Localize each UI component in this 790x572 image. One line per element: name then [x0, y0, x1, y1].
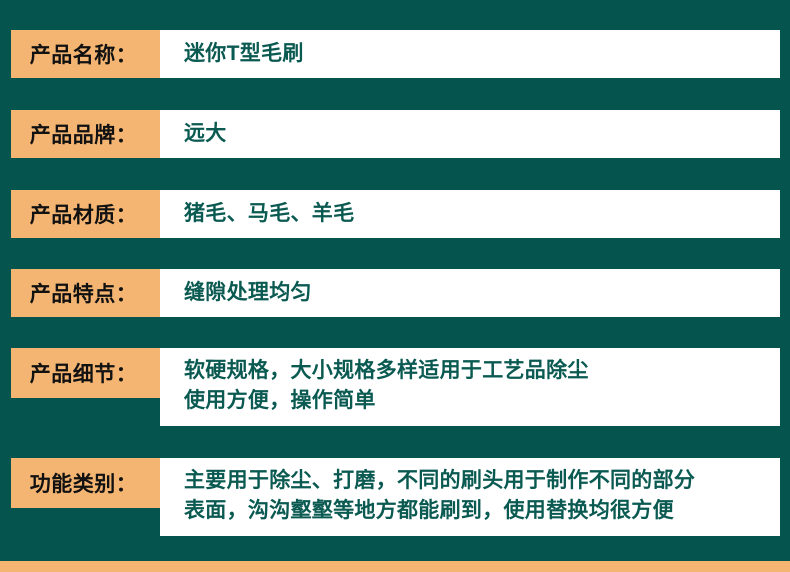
spec-value-line: 表面，沟沟壑壑等地方都能刷到，使用替换均很方便: [184, 496, 774, 526]
spec-row-product-material: 产品材质： 猪毛、马毛、羊毛: [11, 190, 780, 238]
spec-label-product-name: 产品名称：: [11, 30, 160, 78]
spec-value-product-details: 软硬规格，大小规格多样适用于工艺品除尘 使用方便，操作简单: [160, 348, 780, 426]
spec-label-product-details: 产品细节：: [11, 348, 160, 398]
bottom-accent-bar: [0, 561, 790, 572]
spec-row-function-category: 功能类别： 主要用于除尘、打磨，不同的刷头用于制作不同的部分 表面，沟沟壑壑等地…: [11, 458, 780, 536]
spec-value-line: 使用方便，操作简单: [184, 386, 774, 416]
spec-value-line: 猪毛、马毛、羊毛: [184, 199, 774, 229]
spec-row-product-name: 产品名称： 迷你T型毛刷: [11, 30, 780, 78]
spec-row-product-details: 产品细节： 软硬规格，大小规格多样适用于工艺品除尘 使用方便，操作简单: [11, 348, 780, 426]
spec-value-product-features: 缝隙处理均匀: [160, 269, 780, 317]
spec-value-function-category: 主要用于除尘、打磨，不同的刷头用于制作不同的部分 表面，沟沟壑壑等地方都能刷到，…: [160, 458, 780, 536]
spec-label-product-material: 产品材质：: [11, 190, 160, 238]
spec-value-line: 软硬规格，大小规格多样适用于工艺品除尘: [184, 356, 774, 386]
spec-row-product-features: 产品特点： 缝隙处理均匀: [11, 269, 780, 317]
spec-label-product-brand: 产品品牌：: [11, 110, 160, 158]
product-spec-sheet: 产品名称： 迷你T型毛刷 产品品牌： 远大 产品材质： 猪毛、马毛、羊毛 产品特…: [0, 0, 790, 572]
spec-value-product-brand: 远大: [160, 110, 780, 158]
spec-value-product-name: 迷你T型毛刷: [160, 30, 780, 78]
spec-label-product-features: 产品特点：: [11, 269, 160, 317]
spec-value-line: 主要用于除尘、打磨，不同的刷头用于制作不同的部分: [184, 466, 774, 496]
spec-row-product-brand: 产品品牌： 远大: [11, 110, 780, 158]
spec-value-line: 缝隙处理均匀: [184, 278, 774, 308]
spec-value-line: 远大: [184, 119, 774, 149]
spec-label-function-category: 功能类别：: [11, 458, 160, 508]
spec-value-product-material: 猪毛、马毛、羊毛: [160, 190, 780, 238]
spec-value-line: 迷你T型毛刷: [184, 39, 774, 69]
